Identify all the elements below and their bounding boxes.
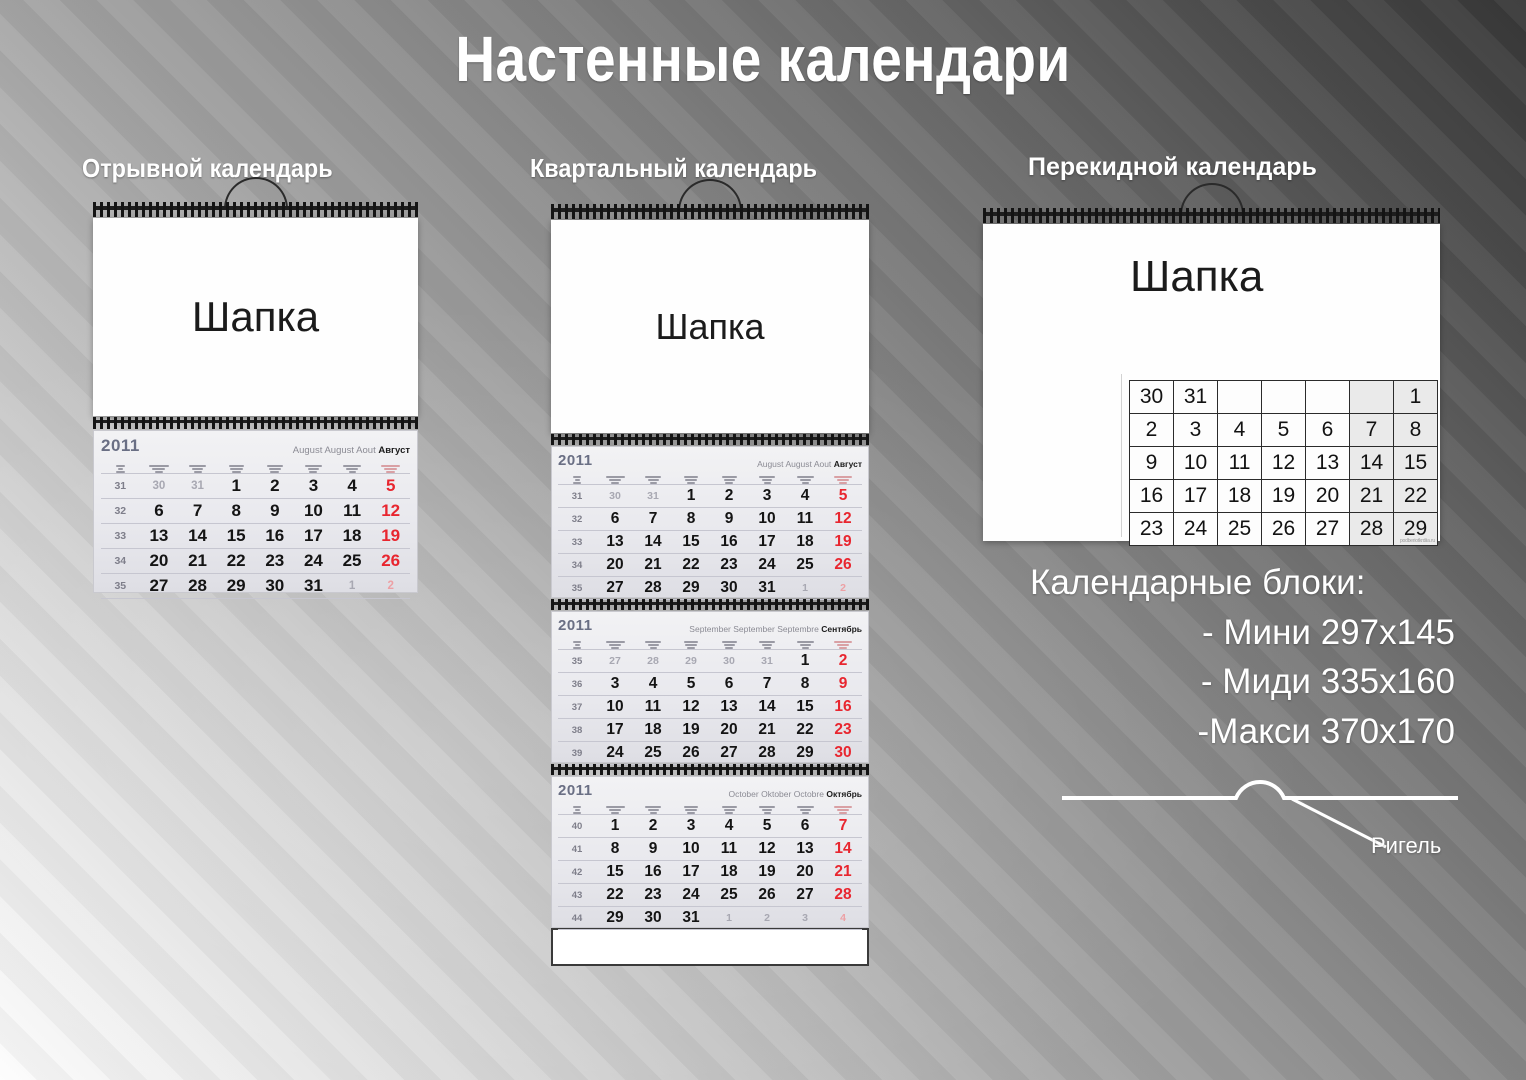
calendar-grid-august: 3130311234532678910111233131415161718193… [101,473,410,604]
calendar-day-cell: 7 [824,817,862,835]
blocks-item-mini: - Мини 297х145 [1030,608,1455,658]
calendar-week-row: 35272829303112 [558,649,862,672]
weekday-glyph-row [558,469,862,484]
calendar-day-cell: 20 [596,556,634,574]
calendar-day-cell: 6 [596,510,634,528]
calendar-week-row: 3420212223242526 [101,548,410,573]
flip-day-cell: 28 [1350,513,1394,546]
column-title-flip: Перекидной календарь [1028,153,1317,182]
flip-day-cell [1218,381,1262,414]
calendar-week-row: 3817181920212223 [558,718,862,741]
calendar-day-cell: 25 [786,556,824,574]
flip-day-cell: 15 [1394,447,1438,480]
calendar-day-cell: 13 [140,526,179,546]
quarterly-header-sheet: Шапка [551,220,869,433]
calendar-day-cell: 3 [786,912,824,924]
calendar-day-cell: 24 [294,551,333,571]
weekday-glyph-row [558,799,862,814]
column-title-tear-off: Отрывной календарь [82,153,333,184]
header-placeholder-label: Шапка [1130,252,1263,302]
calendar-day-cell: 9 [710,510,748,528]
spiral-binding-q2 [551,598,869,611]
calendar-day-cell: 27 [596,579,634,597]
tear-off-header-sheet: Шапка [93,218,418,416]
calendar-day-cell: 5 [371,476,410,496]
calendar-week-row: 326789101112 [558,507,862,530]
week-number-cell: 32 [101,505,140,517]
week-number-cell: 40 [558,821,596,832]
flip-day-cell: 16 [1130,480,1174,513]
calendar-day-cell: 20 [710,721,748,739]
flip-header-sheet: Шапка 3031123456789101112131415161718192… [983,224,1440,541]
calendar-day-cell: 9 [824,675,862,693]
calendar-week-row: 3420212223242526 [558,553,862,576]
week-number-cell: 41 [558,844,596,855]
calendar-day-cell: 11 [786,510,824,528]
calendar-day-cell: 23 [634,886,672,904]
calendar-day-cell: 30 [596,490,634,502]
calendar-day-cell: 12 [748,840,786,858]
calendar-week-row: 35272829303112 [101,573,410,598]
calendar-day-cell: 12 [672,698,710,716]
calendar-day-cell: 22 [786,721,824,739]
calendar-day-cell: 8 [672,510,710,528]
quarterly-calendar: Шапка 2011 August August Aout Август 313… [551,202,869,966]
calendar-week-row: 401234567 [558,814,862,837]
calendar-day-cell: 8 [596,840,634,858]
calendar-day-cell: 21 [634,556,672,574]
flip-day-cell [1306,381,1350,414]
calendar-day-cell: 28 [634,579,672,597]
calendar-day-cell: 15 [786,698,824,716]
tear-off-calendar: Шапка 2011 August August Aout Август 313… [93,200,418,593]
block-month-names: September September Septembre Сентябрь [689,624,862,634]
flip-day-cell: 22 [1394,480,1438,513]
flip-day-cell: 14 [1350,447,1394,480]
calendar-day-cell: 25 [634,744,672,762]
spiral-binding-quarterly [551,202,869,220]
calendar-day-cell: 11 [634,698,672,716]
week-number-cell: 32 [558,514,596,525]
week-number-cell: 43 [558,890,596,901]
calendar-day-cell: 5 [748,817,786,835]
calendar-day-cell: 29 [672,579,710,597]
calendar-day-cell: 15 [596,863,634,881]
calendar-day-cell: 17 [596,721,634,739]
flip-day-cell: 1 [1394,381,1438,414]
spiral-binding-tear-off [93,200,418,218]
week-number-cell: 38 [558,725,596,736]
calendar-day-cell: 1 [786,652,824,670]
calendar-day-cell: 14 [824,840,862,858]
calendar-day-cell: 7 [634,510,672,528]
week-number-cell: 33 [101,530,140,542]
header-placeholder-label: Шапка [93,218,418,416]
calendar-day-cell: 21 [178,551,217,571]
calendar-day-cell: 24 [672,886,710,904]
flip-day-cell: 3 [1174,414,1218,447]
calendar-day-cell: 16 [634,863,672,881]
calendar-day-cell: 1 [710,912,748,924]
calendar-day-cell: 18 [710,863,748,881]
calendar-day-cell: 25 [710,886,748,904]
calendar-block-footer [558,929,862,935]
flip-day-cell: 8 [1394,414,1438,447]
calendar-day-cell: 3 [596,675,634,693]
calendar-day-cell: 14 [748,698,786,716]
calendar-week-row: 31303112345 [558,484,862,507]
calendar-day-cell: 19 [371,526,410,546]
calendar-day-cell: 6 [786,817,824,835]
calendar-day-cell: 3 [748,487,786,505]
calendar-day-cell: 2 [710,487,748,505]
flip-day-cell: 6 [1306,414,1350,447]
week-number-cell: 33 [558,537,596,548]
calendar-day-cell: 30 [634,909,672,927]
calendar-day-cell: 28 [824,886,862,904]
blocks-item-maxi: -Макси 370х170 [1030,707,1455,757]
calendar-day-cell: 19 [748,863,786,881]
flip-table-body: 3031123456789101112131415161718192021222… [1130,381,1438,546]
calendar-day-cell: 8 [786,675,824,693]
spiral-binding-flip [983,206,1440,224]
flip-day-cell: 24 [1174,513,1218,546]
page-title: Настенные календари [107,22,1419,96]
block-year: 2011 [558,452,593,469]
calendar-day-cell: 1 [672,487,710,505]
calendar-day-cell: 20 [140,551,179,571]
calendar-day-cell: 24 [748,556,786,574]
calendar-day-cell: 12 [371,501,410,521]
block-year: 2011 [101,436,140,456]
flip-day-cell: 29podberiotkrdiia.ru [1394,513,1438,546]
calendar-day-cell: 16 [710,533,748,551]
week-number-cell: 44 [558,913,596,924]
flip-day-cell: 4 [1218,414,1262,447]
calendar-day-cell: 6 [140,501,179,521]
column-title-quarterly: Квартальный календарь [530,153,817,184]
flip-day-cell: 10 [1174,447,1218,480]
calendar-day-cell: 22 [217,551,256,571]
calendar-week-row: 4322232425262728 [558,883,862,906]
block-year: 2011 [558,617,593,634]
calendar-day-cell: 5 [824,487,862,505]
calendar-day-cell: 30 [140,480,179,492]
calendar-day-cell: 3 [672,817,710,835]
calendar-day-cell: 24 [596,744,634,762]
flip-day-cell: 23 [1130,513,1174,546]
flip-day-cell: 13 [1306,447,1350,480]
calendar-day-cell: 29 [672,655,710,667]
calendar-day-cell: 10 [672,840,710,858]
calendar-day-cell: 20 [786,863,824,881]
flip-day-cell: 19 [1262,480,1306,513]
calendar-day-cell: 29 [596,909,634,927]
calendar-day-cell: 11 [710,840,748,858]
block-month-names: August August Aout Август [757,459,862,469]
calendar-block-footer [101,598,410,604]
weekday-glyph-row [558,634,862,649]
calendar-day-cell: 31 [634,490,672,502]
week-number-cell: 35 [558,583,596,594]
calendar-week-row: 326789101112 [101,498,410,523]
calendar-day-cell: 30 [710,579,748,597]
calendar-day-cell: 31 [748,579,786,597]
rigel-label: Ригель [1371,833,1441,859]
calendar-day-cell: 26 [672,744,710,762]
calendar-day-cell: 4 [634,675,672,693]
weekday-glyph-row [101,456,410,473]
calendar-week-row: 363456789 [558,672,862,695]
rigel-bar-icon [1060,778,1460,818]
calendar-day-cell: 18 [333,526,372,546]
calendar-day-cell: 23 [824,721,862,739]
week-number-cell: 34 [558,560,596,571]
flip-day-cell: 31 [1174,381,1218,414]
calendar-day-cell: 30 [824,744,862,762]
flip-calendar-table: 3031123456789101112131415161718192021222… [1129,380,1438,546]
calendar-day-cell: 10 [294,501,333,521]
header-placeholder-label: Шапка [551,220,869,433]
calendar-day-cell: 14 [178,526,217,546]
week-number-cell: 36 [558,679,596,690]
calendar-week-row: 442930311234 [558,906,862,929]
flip-table-row: 16171819202122 [1130,480,1438,513]
calendar-day-cell: 1 [333,580,372,592]
flip-day-cell: 11 [1218,447,1262,480]
calendar-day-cell: 7 [748,675,786,693]
flip-day-cell: 26 [1262,513,1306,546]
rigel-diagram [1060,778,1460,818]
calendar-day-cell: 12 [824,510,862,528]
calendar-block-october: 2011 October Oktober Octobre Октябрь 401… [551,776,869,928]
flip-day-cell [1262,381,1306,414]
calendar-day-cell: 31 [178,480,217,492]
calendar-day-cell: 17 [672,863,710,881]
calendar-day-cell: 4 [786,487,824,505]
calendar-day-cell: 27 [710,744,748,762]
flip-day-cell: 12 [1262,447,1306,480]
calendar-day-cell: 29 [786,744,824,762]
table-guide-line [1121,374,1122,537]
calendar-day-cell: 10 [748,510,786,528]
calendar-day-cell: 26 [824,556,862,574]
calendar-day-cell: 9 [634,840,672,858]
calendar-day-cell: 2 [256,476,295,496]
calendar-block-august: 2011 August August Aout Август 313031123… [93,430,418,593]
week-number-cell: 31 [558,491,596,502]
week-number-cell: 35 [101,580,140,592]
calendar-day-cell: 31 [294,576,333,596]
flip-day-cell: 2 [1130,414,1174,447]
calendar-day-cell: 2 [748,912,786,924]
week-number-cell: 35 [558,656,596,667]
calendar-day-cell: 31 [672,909,710,927]
calendar-day-cell: 2 [824,652,862,670]
block-month-names: August August Aout Август [293,445,410,456]
calendar-week-row: 3710111213141516 [558,695,862,718]
calendar-grid-september: 3527282930311236345678937101112131415163… [558,649,862,770]
calendar-day-cell: 16 [256,526,295,546]
calendar-grid-august-quarterly: 3130311234532678910111233131415161718193… [558,484,862,605]
calendar-block-august-quarterly: 2011 August August Aout Август 313031123… [551,446,869,598]
spiral-binding-q1 [551,433,869,446]
week-number-cell: 37 [558,702,596,713]
calendar-day-cell: 28 [634,655,672,667]
week-number-cell: 42 [558,867,596,878]
flip-day-cell: 18 [1218,480,1262,513]
calendar-day-cell: 21 [748,721,786,739]
calendar-day-cell: 30 [710,655,748,667]
calendar-day-cell: 27 [596,655,634,667]
calendar-week-row: 4215161718192021 [558,860,862,883]
calendar-day-cell: 15 [672,533,710,551]
week-number-cell: 34 [101,555,140,567]
blocks-heading: Календарные блоки: [1030,558,1455,608]
calendar-block-september: 2011 September September Septembre Сентя… [551,611,869,763]
spiral-binding-tear-off-lower [93,416,418,430]
flip-table-row: 30311 [1130,381,1438,414]
calendar-week-row: 3924252627282930 [558,741,862,764]
spiral-binding-q3 [551,763,869,776]
calendar-day-cell: 2 [634,817,672,835]
calendar-day-cell: 2 [824,582,862,594]
calendar-day-cell: 4 [333,476,372,496]
flip-day-cell: 27 [1306,513,1350,546]
calendar-day-cell: 17 [748,533,786,551]
calendar-day-cell: 3 [294,476,333,496]
calendar-day-cell: 26 [371,551,410,571]
calendar-day-cell: 27 [786,886,824,904]
calendar-day-cell: 19 [672,721,710,739]
watermark: podberiotkrdiia.ru [1400,538,1435,544]
calendar-day-cell: 18 [786,533,824,551]
flip-table-row: 23242526272829podberiotkrdiia.ru [1130,513,1438,546]
flip-table-row: 2345678 [1130,414,1438,447]
calendar-day-cell: 17 [294,526,333,546]
calendar-day-cell: 23 [256,551,295,571]
calendar-day-cell: 9 [256,501,295,521]
calendar-day-cell: 19 [824,533,862,551]
blocks-item-midi: - Миди 335х160 [1030,657,1455,707]
calendar-day-cell: 6 [710,675,748,693]
calendar-day-cell: 30 [256,576,295,596]
calendar-day-cell: 27 [140,576,179,596]
flip-day-cell: 21 [1350,480,1394,513]
calendar-week-row: 31303112345 [101,473,410,498]
calendar-day-cell: 14 [634,533,672,551]
block-year: 2011 [558,782,593,799]
flip-calendar: Шапка 3031123456789101112131415161718192… [983,206,1440,541]
calendar-day-cell: 1 [596,817,634,835]
calendar-blocks-info: Календарные блоки: - Мини 297х145 - Миди… [1030,558,1455,757]
calendar-day-cell: 15 [217,526,256,546]
calendar-day-cell: 18 [634,721,672,739]
calendar-day-cell: 8 [217,501,256,521]
flip-day-cell: 30 [1130,381,1174,414]
calendar-day-cell: 29 [217,576,256,596]
calendar-day-cell: 4 [710,817,748,835]
calendar-day-cell: 25 [333,551,372,571]
calendar-day-cell: 4 [824,912,862,924]
calendar-day-cell: 31 [748,655,786,667]
calendar-day-cell: 21 [824,863,862,881]
flip-day-cell: 5 [1262,414,1306,447]
week-number-cell: 31 [101,480,140,492]
calendar-day-cell: 26 [748,886,786,904]
calendar-week-row: 41891011121314 [558,837,862,860]
calendar-day-cell: 13 [710,698,748,716]
flip-day-cell: 17 [1174,480,1218,513]
calendar-day-cell: 2 [371,580,410,592]
calendar-day-cell: 28 [178,576,217,596]
flip-table-row: 9101112131415 [1130,447,1438,480]
calendar-week-row: 35272829303112 [558,576,862,599]
calendar-day-cell: 10 [596,698,634,716]
calendar-day-cell: 1 [217,476,256,496]
flip-day-cell: 7 [1350,414,1394,447]
calendar-week-row: 3313141516171819 [558,530,862,553]
calendar-grid-october: 4012345674189101112131442151617181920214… [558,814,862,935]
calendar-day-cell: 7 [178,501,217,521]
flip-day-cell: 25 [1218,513,1262,546]
flip-day-cell: 9 [1130,447,1174,480]
flip-day-cell [1350,381,1394,414]
calendar-day-cell: 11 [333,501,372,521]
calendar-day-cell: 28 [748,744,786,762]
calendar-day-cell: 22 [672,556,710,574]
calendar-day-cell: 1 [786,582,824,594]
calendar-day-cell: 13 [596,533,634,551]
flip-day-cell: 20 [1306,480,1350,513]
calendar-week-row: 3313141516171819 [101,523,410,548]
calendar-day-cell: 23 [710,556,748,574]
calendar-day-cell: 13 [786,840,824,858]
block-month-names: October Oktober Octobre Октябрь [728,789,862,799]
calendar-day-cell: 22 [596,886,634,904]
calendar-day-cell: 5 [672,675,710,693]
calendar-day-cell: 16 [824,698,862,716]
week-number-cell: 39 [558,748,596,759]
